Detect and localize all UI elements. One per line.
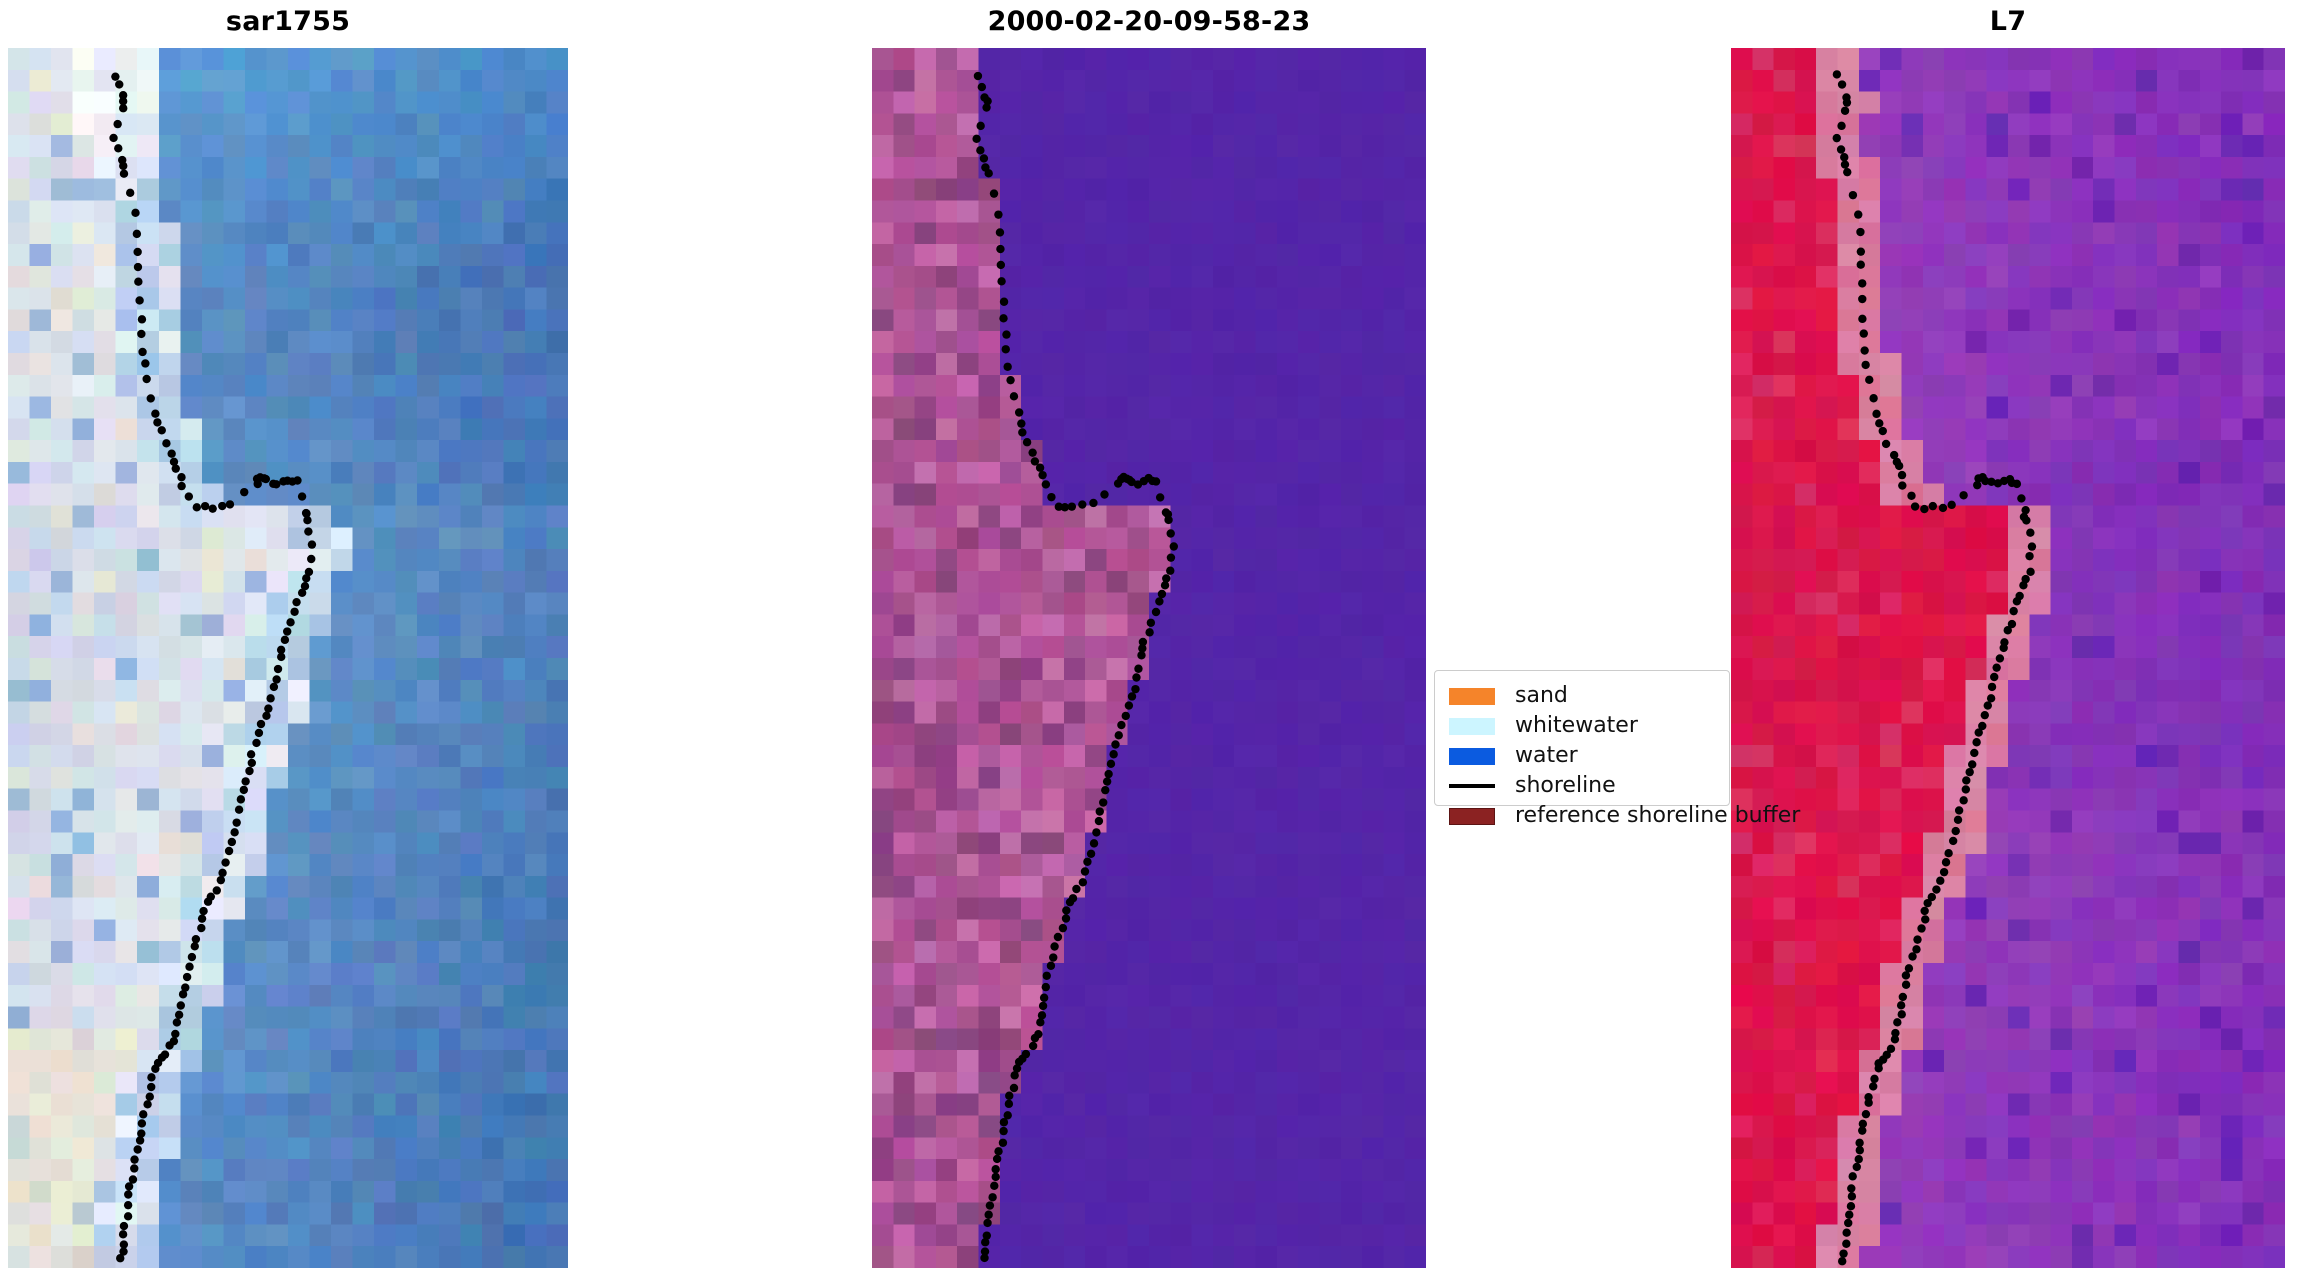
legend-swatch-whitewater [1449,718,1495,735]
legend-label-reference-shoreline-buffer: reference shoreline buffer [1515,805,1800,827]
legend-item-reference-shoreline-buffer: reference shoreline buffer [1449,801,1717,831]
legend: sand whitewater water shoreline referenc… [1434,670,1730,806]
legend-item-water: water [1449,741,1717,771]
legend-item-shoreline: shoreline [1449,771,1717,801]
panel-title-l7: L7 [1731,6,2285,37]
legend-label-whitewater: whitewater [1515,715,1638,737]
legend-label-sand: sand [1515,685,1568,707]
legend-swatch-reference-shoreline-buffer [1449,808,1495,825]
panel-title-sar1755: sar1755 [8,6,568,37]
figure-canvas: sar1755 2000-02-20-09-58-23 L7 sand [0,0,2297,1283]
panel-l7: L7 [1731,48,2285,1268]
panel-classified-map: 2000-02-20-09-58-23 [872,48,1426,1268]
sar-raster-canvas [8,48,568,1268]
panel-title-timestamp: 2000-02-20-09-58-23 [872,6,1426,37]
panel-sar1755: sar1755 [8,48,568,1268]
legend-swatch-sand [1449,688,1495,705]
l7-composite-image [1731,48,2285,1268]
legend-item-sand: sand [1449,681,1717,711]
legend-swatch-water [1449,748,1495,765]
legend-item-whitewater: whitewater [1449,711,1717,741]
legend-label-shoreline: shoreline [1515,775,1616,797]
legend-swatch-shoreline [1449,784,1495,788]
legend-label-water: water [1515,745,1578,767]
sar-composite-image [8,48,568,1268]
l7-raster-canvas [1731,48,2285,1268]
classified-mask-image [872,48,1426,1268]
classmap-raster-canvas [872,48,1426,1268]
